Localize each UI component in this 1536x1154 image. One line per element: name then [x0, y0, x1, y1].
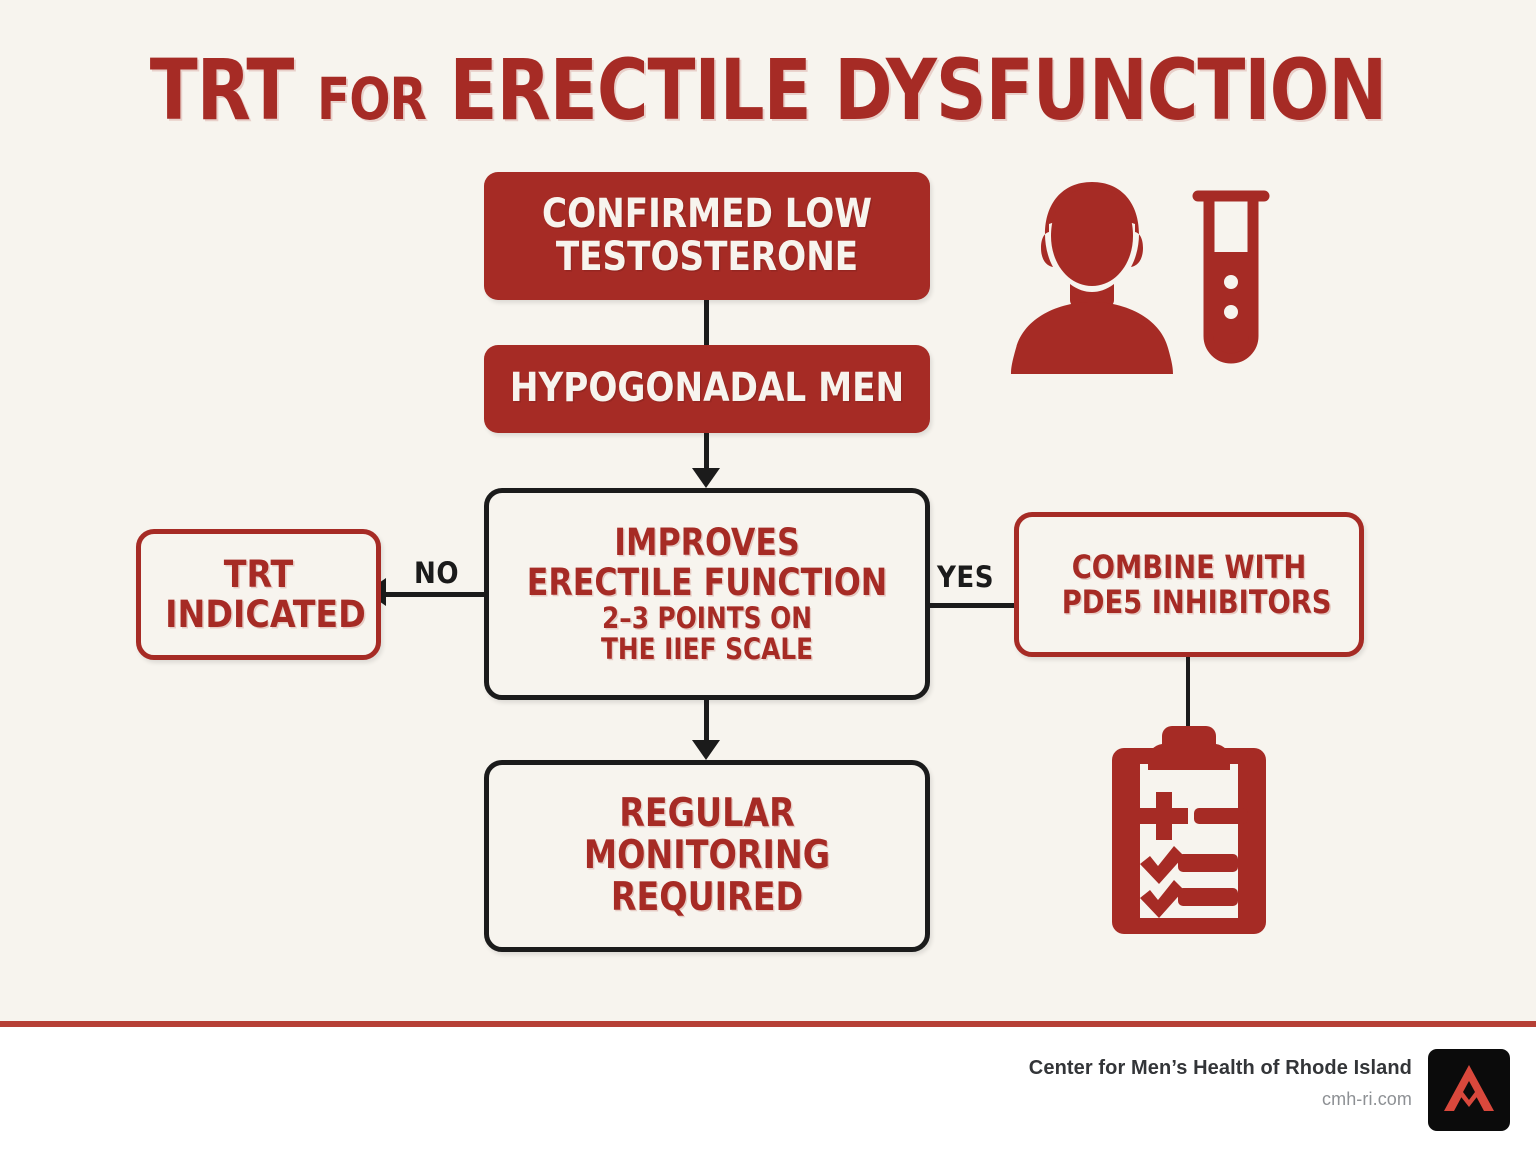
node-hypogonadal-men[interactable]: HYPOGONADAL MEN — [484, 345, 930, 433]
node-label-group: REGULAR MONITORING REQUIRED — [500, 793, 914, 919]
node-line-1: REGULAR — [500, 793, 914, 835]
edge-label-no: NO — [414, 556, 459, 590]
node-regular-monitoring-required[interactable]: REGULAR MONITORING REQUIRED — [484, 760, 930, 952]
node-label-group: TRT INDICATED — [141, 555, 376, 635]
footer-bar: Center for Men’s Health of Rhode Island … — [0, 1027, 1536, 1154]
title-part-2: ERECTILE DYSFUNCTION — [426, 41, 1386, 139]
arrowhead-down-to-monitoring — [692, 740, 720, 760]
edge-label-yes: YES — [937, 560, 994, 594]
node-line-2: PDE5 INHIBITORS — [1028, 585, 1366, 620]
connector-improves-to-monitoring — [704, 700, 709, 742]
node-line-3: REQUIRED — [500, 877, 914, 919]
node-improves-erectile-function[interactable]: IMPROVES ERECTILE FUNCTION 2–3 POINTS ON… — [484, 488, 930, 700]
node-label-group: HYPOGONADAL MEN — [495, 367, 919, 410]
node-line-1: COMBINE WITH — [1028, 550, 1351, 585]
connector-lowt-to-hypogonadal — [704, 300, 709, 345]
infographic-root: TRT FOR ERECTILE DYSFUNCTION CONFIRMED L… — [0, 0, 1536, 1154]
flowchart-canvas: TRT FOR ERECTILE DYSFUNCTION CONFIRMED L… — [0, 0, 1536, 1024]
footer-text-group: Center for Men’s Health of Rhode Island … — [1029, 1057, 1412, 1110]
node-label-group: CONFIRMED LOW TESTOSTERONE — [495, 193, 919, 279]
patient-silhouette-icon — [1002, 178, 1182, 378]
medical-clipboard-icon — [1106, 722, 1272, 940]
node-line-1: HYPOGONADAL MEN — [495, 367, 919, 410]
footer-organization: Center for Men’s Health of Rhode Island — [1029, 1057, 1412, 1080]
node-label-group: IMPROVES ERECTILE FUNCTION 2–3 POINTS ON… — [500, 523, 914, 666]
connector-hypogonadal-to-improves — [704, 433, 709, 471]
node-label-group: COMBINE WITH PDE5 INHIBITORS — [1028, 550, 1351, 619]
node-line-2: INDICATED — [131, 595, 400, 635]
mountain-peak-logo-icon — [1428, 1049, 1510, 1131]
node-line-1: CONFIRMED LOW — [495, 193, 919, 236]
node-line-1: IMPROVES — [500, 523, 914, 563]
node-confirmed-low-testosterone[interactable]: CONFIRMED LOW TESTOSTERONE — [484, 172, 930, 300]
node-trt-indicated[interactable]: TRT INDICATED — [136, 529, 381, 660]
test-tube-icon — [1192, 186, 1270, 378]
node-line-2: TESTOSTERONE — [495, 236, 919, 279]
connector-yes-branch — [928, 603, 1020, 608]
footer-website[interactable]: cmh-ri.com — [1029, 1089, 1412, 1110]
node-line-1: TRT — [141, 555, 376, 595]
page-title: TRT FOR ERECTILE DYSFUNCTION — [54, 44, 1482, 145]
node-line-2: ERECTILE FUNCTION — [500, 563, 914, 603]
node-line-3: 2–3 POINTS ON — [500, 603, 914, 634]
node-combine-with-pde5-inhibitors[interactable]: COMBINE WITH PDE5 INHIBITORS — [1014, 512, 1364, 657]
title-part-1: TRT — [150, 41, 317, 139]
arrowhead-down-to-improves — [692, 468, 720, 488]
node-line-2: MONITORING — [500, 835, 914, 877]
title-part-for: FOR — [317, 65, 426, 133]
brand-logo[interactable] — [1428, 1049, 1510, 1131]
node-line-4: THE IIEF SCALE — [500, 634, 914, 665]
